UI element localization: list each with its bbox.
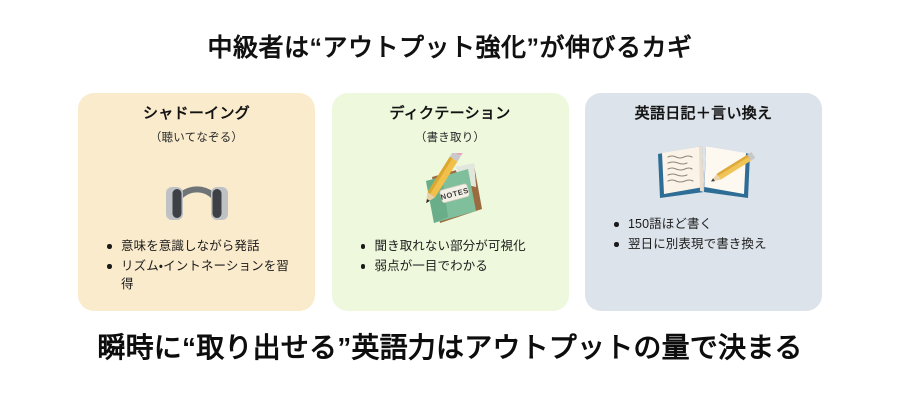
card-dictation: ディクテーション （書き取り） NOTES — [332, 93, 569, 311]
card-subtitle: （書き取り） — [415, 129, 485, 145]
method-cards-row: シャドーイング （聴いてなぞる） 意味を意識しながら発話 — [78, 93, 822, 311]
open-book-pencil-icon — [595, 127, 812, 213]
list-item: 弱点が一目でわかる — [360, 257, 555, 275]
card-title: シャドーイング — [143, 105, 250, 123]
card-subtitle: （聴いてなぞる） — [150, 129, 243, 145]
card-bullet-list: 聞き取れない部分が可視化 弱点が一目でわかる — [342, 237, 559, 277]
list-item: 意味を意識しながら発話 — [106, 237, 301, 255]
card-english-diary: 英語日記＋言い換え — [585, 93, 822, 311]
footer-tagline: 瞬時に“取り出せる”英語力はアウトプットの量で決まる — [0, 326, 900, 366]
card-bullet-list: 意味を意識しながら発話 リズム・イントネーションを習得 — [88, 237, 305, 295]
list-item: リズム・イントネーションを習得 — [106, 257, 301, 293]
card-title: ディクテーション — [389, 105, 510, 123]
page-title: 中級者は“アウトプット強化”が伸びるカギ — [0, 28, 900, 64]
notebook-pencil-icon: NOTES — [342, 149, 559, 235]
list-item: 翌日に別表現で書き換え — [613, 235, 808, 253]
card-bullet-list: 150語ほど書く 翌日に別表現で書き換え — [595, 215, 812, 255]
list-item: 聞き取れない部分が可視化 — [360, 237, 555, 255]
card-title: 英語日記＋言い換え — [635, 105, 773, 123]
headphones-icon — [88, 149, 305, 235]
list-item: 150語ほど書く — [613, 215, 808, 233]
card-shadowing: シャドーイング （聴いてなぞる） 意味を意識しながら発話 — [78, 93, 315, 311]
